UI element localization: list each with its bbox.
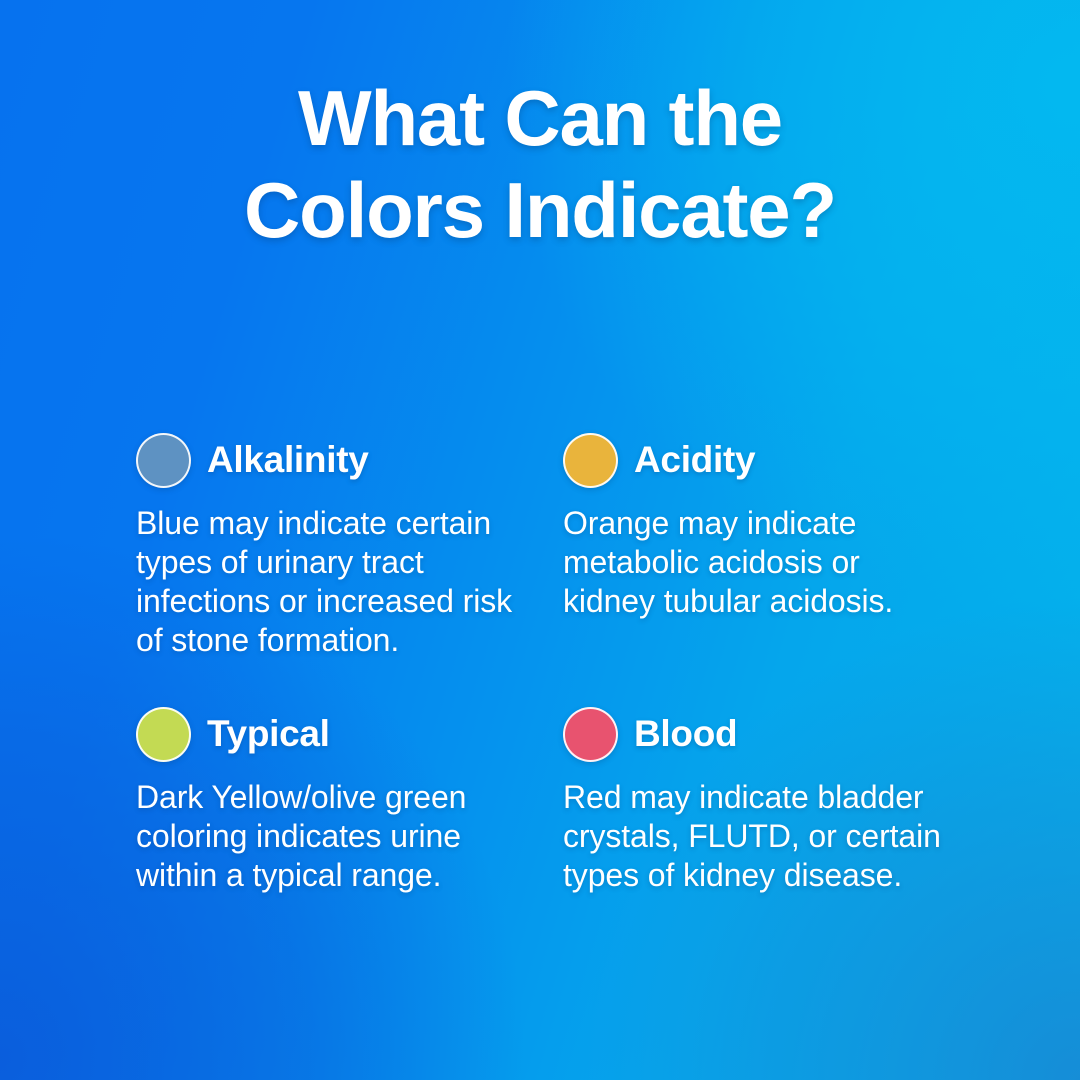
color-card-acidity: Acidity Orange may indicate metabolic ac… [563, 430, 990, 660]
card-header-typical: Typical [136, 704, 563, 764]
color-card-typical: Typical Dark Yellow/olive green coloring… [136, 704, 563, 895]
card-title-typical: Typical [207, 712, 330, 756]
red-color-swatch-icon [563, 707, 618, 762]
green-color-swatch-icon [136, 707, 191, 762]
card-description-typical: Dark Yellow/olive green coloring indicat… [136, 778, 526, 895]
color-card-blood: Blood Red may indicate bladder crystals,… [563, 704, 990, 895]
color-card-alkalinity: Alkalinity Blue may indicate certain typ… [136, 430, 563, 660]
card-title-acidity: Acidity [634, 438, 755, 482]
card-description-acidity: Orange may indicate metabolic acidosis o… [563, 504, 953, 621]
card-description-alkalinity: Blue may indicate certain types of urina… [136, 504, 526, 660]
card-header-acidity: Acidity [563, 430, 990, 490]
orange-color-swatch-icon [563, 433, 618, 488]
page-title-line-1: What Can the [60, 72, 1020, 164]
blue-color-swatch-icon [136, 433, 191, 488]
card-title-blood: Blood [634, 712, 737, 756]
card-header-blood: Blood [563, 704, 990, 764]
page-title-line-2: Colors Indicate? [60, 164, 1020, 256]
infographic-poster: What Can the Colors Indicate? Alkalinity… [0, 0, 1080, 1080]
color-indicator-grid: Alkalinity Blue may indicate certain typ… [136, 430, 1016, 895]
card-title-alkalinity: Alkalinity [207, 438, 369, 482]
page-title: What Can the Colors Indicate? [0, 72, 1080, 256]
card-description-blood: Red may indicate bladder crystals, FLUTD… [563, 778, 953, 895]
card-header-alkalinity: Alkalinity [136, 430, 563, 490]
